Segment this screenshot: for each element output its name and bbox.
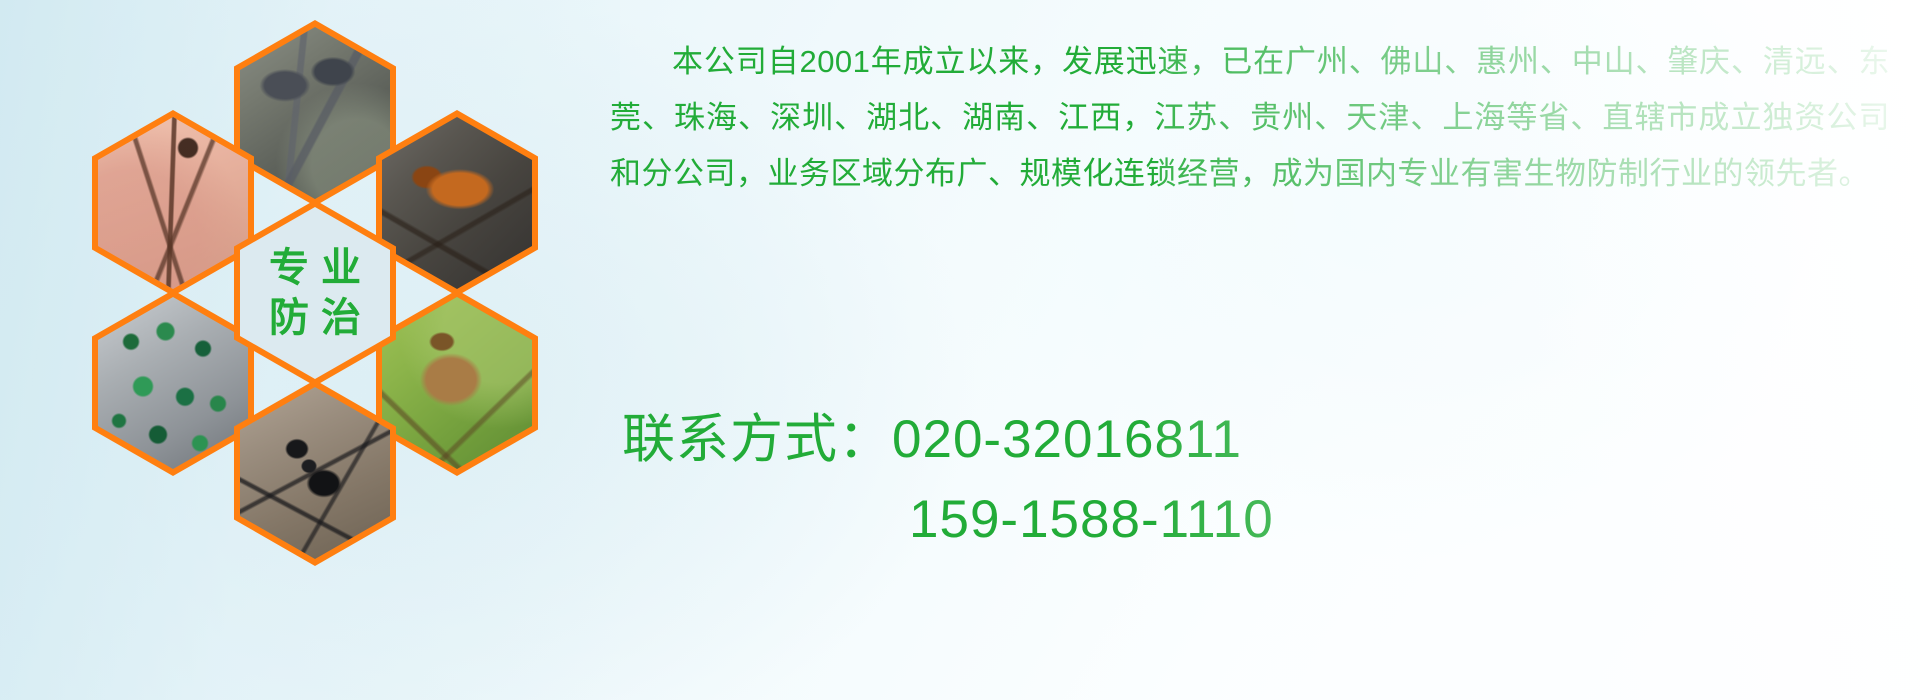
hex-tile-badge: 专业 防治 bbox=[234, 200, 396, 386]
ant-photo bbox=[240, 387, 390, 559]
contact-secondary-phone[interactable]: 159-1588-1110 bbox=[622, 480, 1912, 560]
badge-label-line-2: 防治 bbox=[257, 298, 373, 338]
hex-tile-stinkbug bbox=[376, 290, 538, 476]
cockroach-photo bbox=[382, 117, 532, 289]
hex-tile-rats bbox=[234, 20, 396, 206]
hex-tile-rats-inner bbox=[240, 27, 390, 199]
hex-photo-collage: 专业 防治 bbox=[86, 8, 586, 568]
hex-tile-badge-inner: 专业 防治 bbox=[240, 207, 390, 379]
hex-tile-ant-inner bbox=[240, 387, 390, 559]
rats-photo bbox=[240, 27, 390, 199]
badge-label-line-1: 专业 bbox=[257, 248, 373, 288]
mosquito-photo bbox=[98, 117, 248, 289]
contact-block: 联系方式：020-32016811 159-1588-1110 bbox=[622, 400, 1912, 560]
intro-paragraph: 本公司自2001年成立以来，发展迅速，已在广州、佛山、惠州、中山、肇庆、清远、东… bbox=[610, 34, 1890, 202]
contact-primary-line[interactable]: 联系方式：020-32016811 bbox=[622, 400, 1912, 480]
hex-tile-stinkbug-inner bbox=[382, 297, 532, 469]
hex-tile-ant bbox=[234, 380, 396, 566]
hex-tile-cockroach bbox=[376, 110, 538, 296]
hex-tile-cockroach-inner bbox=[382, 117, 532, 289]
badge-label: 专业 防治 bbox=[240, 207, 390, 379]
pest-control-banner: 专业 防治 本公司自2001年成立以来，发展迅速，已在广州、佛山、惠州、中山、肇… bbox=[0, 0, 1920, 700]
company-intro-block: 本公司自2001年成立以来，发展迅速，已在广州、佛山、惠州、中山、肇庆、清远、东… bbox=[610, 34, 1890, 202]
hex-tile-mosquito-inner bbox=[98, 117, 248, 289]
hex-tile-mosquito bbox=[92, 110, 254, 296]
hex-tile-flies bbox=[92, 290, 254, 476]
stinkbug-photo bbox=[382, 297, 532, 469]
hex-tile-flies-inner bbox=[98, 297, 248, 469]
flies-photo bbox=[98, 297, 248, 469]
